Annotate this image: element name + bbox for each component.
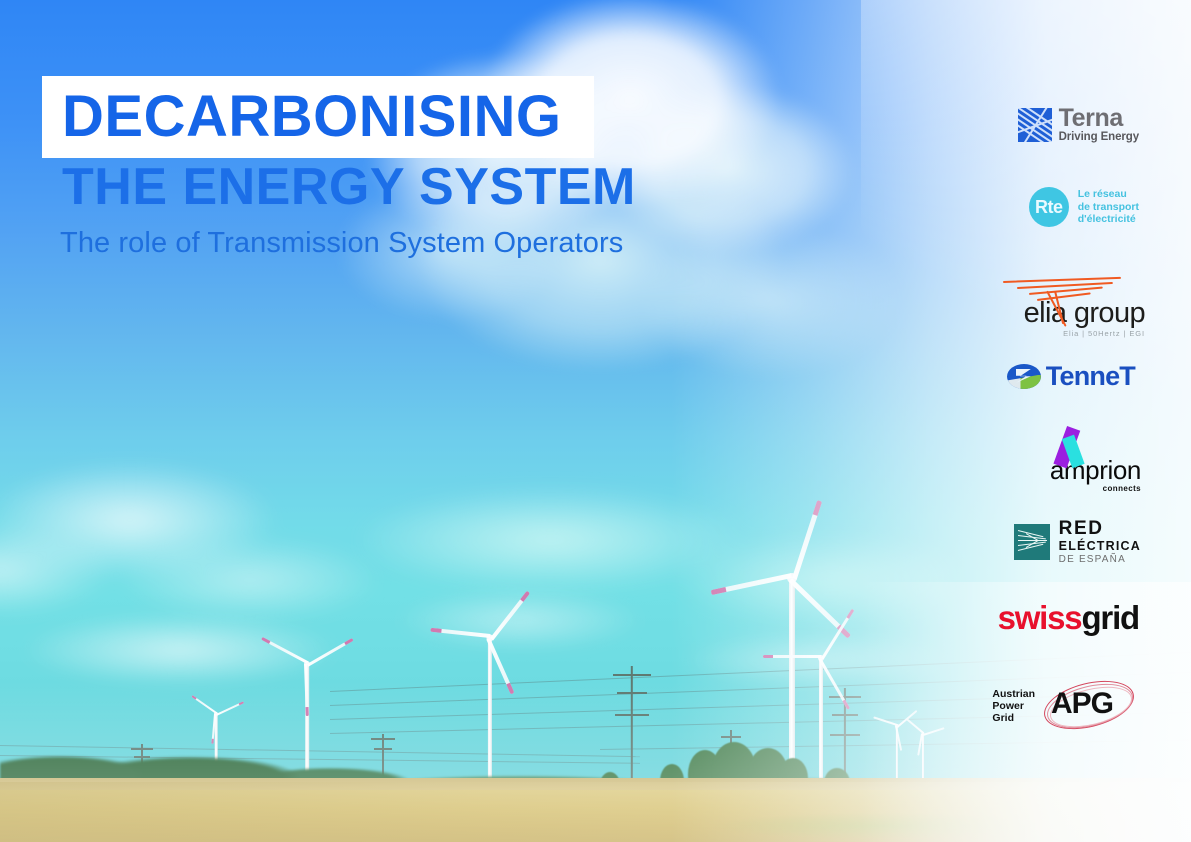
rte-tagline-1: Le réseau <box>1078 188 1139 201</box>
terna-tagline: Driving Energy <box>1059 132 1139 144</box>
swissgrid-wordmark-part-2: grid <box>1081 601 1139 635</box>
title-line-2: THE ENERGY SYSTEM <box>62 156 636 218</box>
elia-swoosh-icon <box>1003 278 1143 304</box>
logo-tennet: TenneT <box>1007 363 1135 390</box>
tennet-mark-icon <box>1007 364 1041 389</box>
logo-elia-group: elia group Elia | 50Hertz | EGI <box>1003 278 1145 338</box>
amprion-tagline: connects <box>1103 484 1141 493</box>
apg-wordmark: APG <box>1051 688 1113 720</box>
terna-wordmark: Terna <box>1059 106 1139 131</box>
terna-mark-icon <box>1018 108 1052 142</box>
rte-tagline-2: de transport <box>1078 201 1139 214</box>
logo-terna: Terna Driving Energy <box>1018 106 1139 144</box>
elia-tagline: Elia | 50Hertz | EGI <box>1063 329 1145 338</box>
amprion-mark-icon <box>1045 430 1101 466</box>
logo-amprion: amprion connects <box>1045 430 1141 493</box>
red-electrica-word-3: DE ESPAÑA <box>1059 555 1141 565</box>
logo-apg: Austrian Power Grid APG <box>927 677 1137 735</box>
swissgrid-wordmark-part-1: swiss <box>998 601 1082 635</box>
apg-tagline-2: Power <box>992 700 1035 712</box>
title-line-1: DECARBONISING <box>62 83 562 151</box>
red-electrica-word-1: RED <box>1059 519 1141 538</box>
page-subtitle: The role of Transmission System Operator… <box>60 224 623 262</box>
logo-red-electrica: RED ELÉCTRICA DE ESPAÑA <box>1014 519 1141 565</box>
tso-logo-column: Terna Driving Energy Rte Le réseau de tr… <box>981 0 1191 842</box>
apg-mark-icon: APG <box>1041 677 1137 735</box>
rte-mark-icon: Rte <box>1029 187 1069 227</box>
red-electrica-mark-icon <box>1014 524 1050 560</box>
red-electrica-word-2: ELÉCTRICA <box>1059 540 1141 553</box>
tennet-wordmark: TenneT <box>1046 363 1135 390</box>
apg-tagline-1: Austrian <box>992 688 1035 700</box>
logo-swissgrid: swissgrid <box>998 601 1139 635</box>
cover-page: DECARBONISING THE ENERGY SYSTEM The role… <box>0 0 1191 842</box>
apg-tagline-3: Grid <box>992 712 1035 724</box>
logo-rte: Rte Le réseau de transport d'électricité <box>1029 187 1139 227</box>
rte-tagline-3: d'électricité <box>1078 213 1139 226</box>
